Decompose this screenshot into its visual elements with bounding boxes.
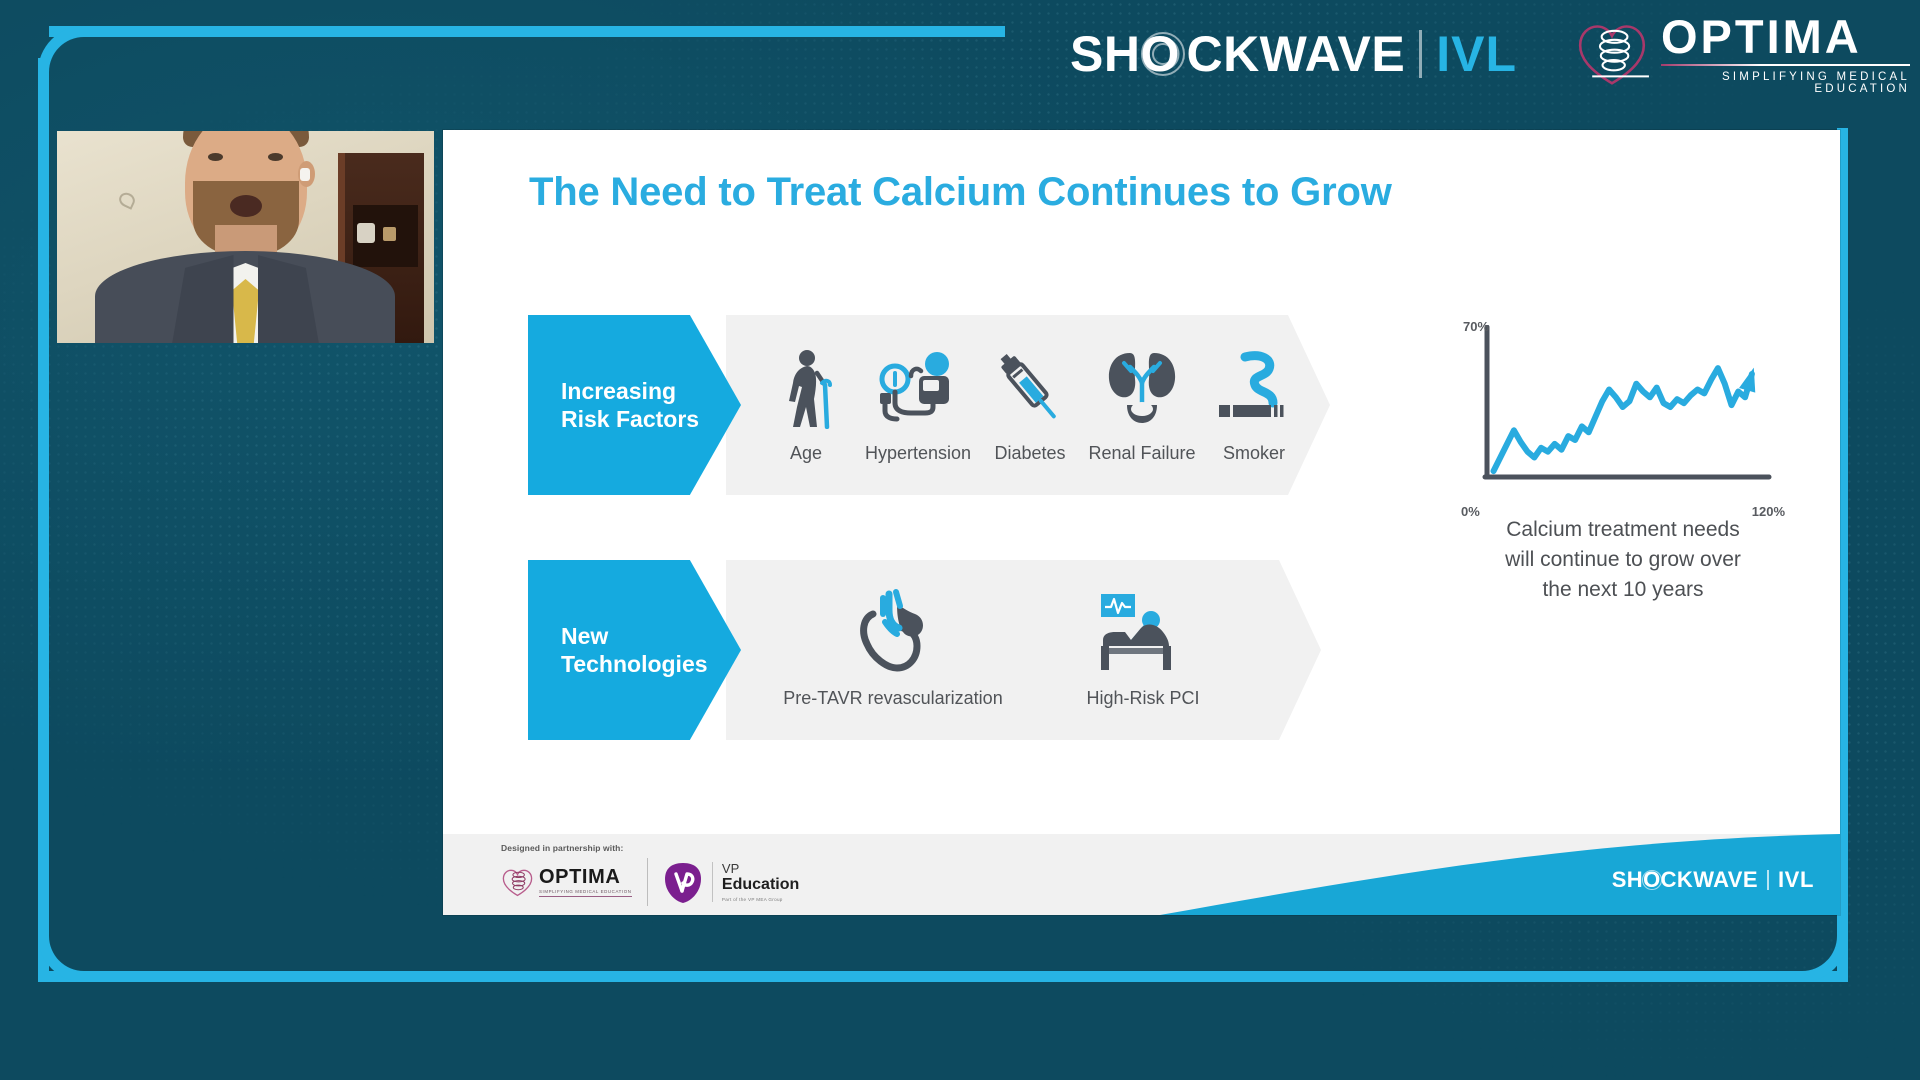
shockwave-footer-ivl: IVL — [1778, 867, 1814, 893]
optima-rule — [1661, 64, 1910, 66]
elderly-person-with-cane-icon — [776, 347, 836, 429]
chart-y-axis-max-label: 70% — [1463, 319, 1489, 334]
chevron-label: New Technologies — [528, 622, 708, 678]
presenter-video-feed[interactable] — [57, 131, 434, 343]
tech-item-label: High-Risk PCI — [1086, 688, 1199, 709]
risk-item-label: Smoker — [1223, 443, 1285, 464]
shockwave-word-part-1: SH — [1070, 29, 1140, 79]
optima-tagline: SIMPLIFYING MEDICAL EDUCATION — [1661, 71, 1910, 95]
heart-icon — [853, 592, 933, 674]
risk-item-hypertension: Hypertension — [862, 347, 974, 464]
chart-plot-area — [1473, 325, 1773, 495]
vp-logo-divider — [712, 862, 713, 902]
shockwave-word-part-2: CKWAVE — [1186, 29, 1405, 79]
optima-footer-tagline: SIMPLIFYING MEDICAL EDUCATION — [539, 889, 632, 894]
frame-corner-top-left — [38, 26, 102, 90]
new-technologies-panel: Pre-TAVR revascularization — [726, 560, 1321, 740]
risk-item-smoker: Smoker — [1198, 347, 1310, 464]
video-shelf-object-1 — [357, 223, 375, 243]
risk-item-label: Diabetes — [994, 443, 1065, 464]
chevron-increasing-risk-factors: Increasing Risk Factors — [528, 315, 741, 495]
tech-item-pre-tavr: Pre-TAVR revascularization — [768, 592, 1018, 709]
brand-bar: SH O CKWAVE IVL — [1050, 10, 1910, 98]
shockwave-footer-part-2: CKWAVE — [1661, 867, 1758, 893]
vp-shield-icon — [663, 861, 703, 904]
shockwave-footer-logo: SHOCKWAVE IVL — [1612, 867, 1814, 893]
chevron-new-technologies: New Technologies — [528, 560, 741, 740]
partner-logo-row: OPTIMA SIMPLIFYING MEDICAL EDUCATION — [501, 858, 799, 906]
slide-content: The Need to Treat Calcium Continues to G… — [443, 130, 1840, 915]
optima-footer-wordmark: OPTIMA — [539, 867, 632, 887]
chevron-label: Increasing Risk Factors — [528, 377, 699, 433]
chart-caption: Calcium treatment needs will continue to… — [1428, 515, 1818, 604]
slide-title: The Need to Treat Calcium Continues to G… — [529, 170, 1392, 215]
risk-item-label: Age — [790, 443, 822, 464]
presentation-stage: SH O CKWAVE IVL — [0, 0, 1920, 1080]
slide-footer: Designed in partnership with: — [443, 834, 1840, 915]
frame-border-bottom — [38, 971, 1848, 982]
shockwave-footer-part-1: SH — [1612, 867, 1643, 893]
shockwave-wordmark: SH O CKWAVE — [1070, 29, 1405, 79]
blood-pressure-cuff-icon — [875, 347, 961, 429]
partnership-label: Designed in partnership with: — [501, 843, 799, 853]
vp-line-3: Part of the VP MEA Group — [722, 897, 799, 902]
risk-item-age: Age — [750, 347, 862, 464]
new-technologies-item-list: Pre-TAVR revascularization — [726, 560, 1321, 740]
risk-item-renal-failure: Renal Failure — [1086, 347, 1198, 464]
risk-factors-panel: Age — [726, 315, 1330, 495]
risk-item-label: Renal Failure — [1088, 443, 1195, 464]
presenter-mouth — [230, 195, 262, 217]
partnership-block: Designed in partnership with: — [501, 843, 799, 906]
vp-education-logo: VP Education Part of the VP MEA Group — [663, 861, 800, 904]
shockwave-o-ripple-icon: O — [1643, 867, 1661, 893]
frame-border-top — [49, 26, 1005, 37]
kidneys-icon — [1100, 347, 1184, 429]
hospital-bed-patient-monitor-icon — [1097, 592, 1189, 674]
risk-factors-item-list: Age — [726, 315, 1330, 495]
shockwave-logo-divider — [1419, 30, 1422, 78]
chart-data-line — [1494, 368, 1752, 471]
tech-item-label: Pre-TAVR revascularization — [783, 688, 1002, 709]
presenter-video-frame — [57, 131, 434, 343]
vp-education-text: VP Education Part of the VP MEA Group — [722, 862, 799, 901]
optima-footer-rule — [539, 896, 632, 897]
shockwave-logo: SH O CKWAVE IVL — [1070, 29, 1517, 79]
optima-wordmark: OPTIMA — [1661, 13, 1910, 60]
optima-logo: OPTIMA SIMPLIFYING MEDICAL EDUCATION — [1575, 13, 1910, 95]
frame-border-left — [38, 58, 49, 982]
shockwave-footer-divider — [1767, 870, 1769, 890]
risk-item-diabetes: Diabetes — [974, 347, 1086, 464]
video-shelf-object-2 — [383, 227, 396, 241]
vp-line-1: VP — [722, 862, 799, 876]
presenter-eye-right — [268, 153, 283, 161]
growth-trend-chart: 70% 0% 120% — [1473, 325, 1773, 495]
optima-text-block: OPTIMA SIMPLIFYING MEDICAL EDUCATION — [1661, 13, 1910, 95]
vp-line-2: Education — [722, 876, 799, 893]
cigarette-smoke-icon — [1211, 347, 1297, 429]
presenter-eye-left — [208, 153, 223, 161]
chart-trend-arrowhead — [1739, 368, 1755, 393]
optima-footer-logo: OPTIMA SIMPLIFYING MEDICAL EDUCATION — [501, 867, 632, 897]
optima-heart-coil-icon — [1575, 16, 1649, 92]
shockwave-o-ripple-icon: O — [1140, 29, 1186, 79]
tech-item-high-risk-pci: High-Risk PCI — [1018, 592, 1268, 709]
partner-logo-divider — [647, 858, 648, 906]
shockwave-ivl-label: IVL — [1436, 29, 1517, 79]
shockwave-footer-wordmark: SHOCKWAVE — [1612, 867, 1758, 893]
optima-footer-text: OPTIMA SIMPLIFYING MEDICAL EDUCATION — [539, 867, 632, 897]
optima-heart-coil-icon — [501, 868, 534, 897]
presenter-earbud-icon — [300, 168, 310, 181]
syringe-icon — [999, 347, 1061, 429]
risk-item-label: Hypertension — [865, 443, 971, 464]
